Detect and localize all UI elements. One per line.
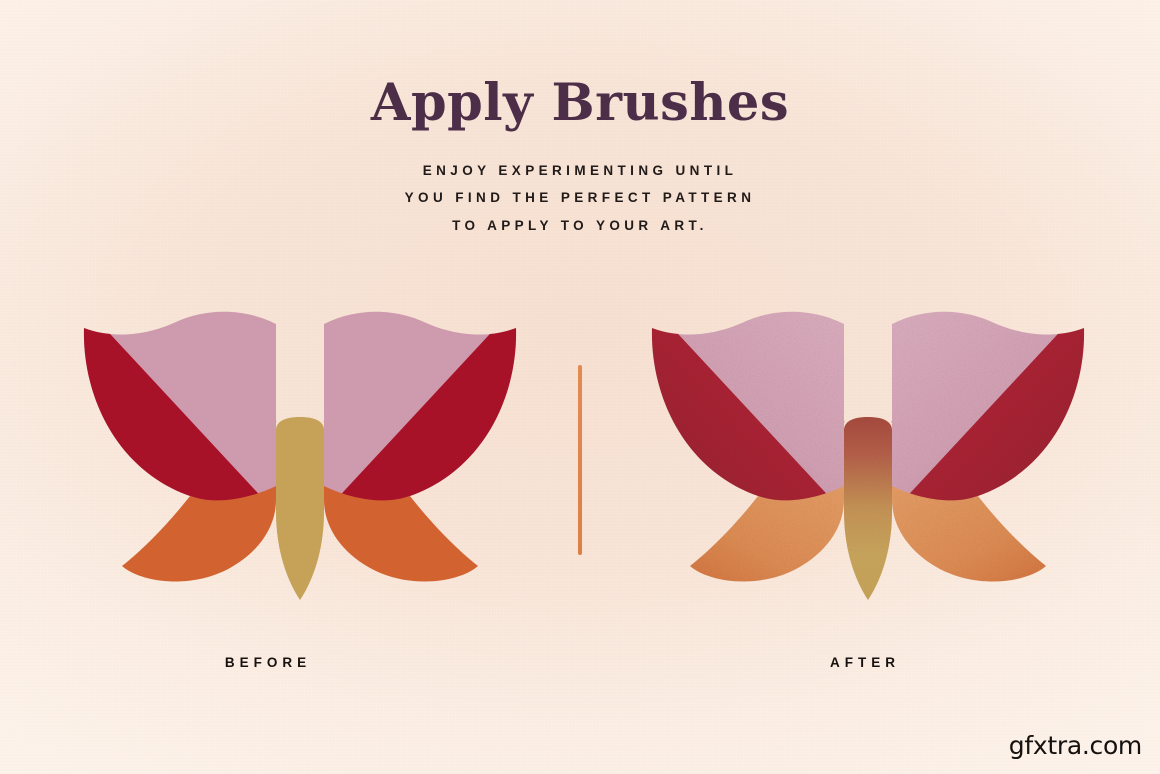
butterfly-body <box>276 417 324 600</box>
subtitle-line-3: TO APPLY TO YOUR ART. <box>345 212 815 239</box>
subtitle-line-1: ENJOY EXPERIMENTING UNTIL <box>345 157 815 184</box>
butterfly-before <box>80 300 520 620</box>
butterfly-textured-illustration <box>648 300 1088 620</box>
before-after-divider <box>578 365 582 555</box>
poster-canvas: Apply Brushes ENJOY EXPERIMENTING UNTIL … <box>0 0 1160 774</box>
butterfly-after <box>648 300 1088 620</box>
butterfly-flat-illustration <box>80 300 520 620</box>
caption-before: BEFORE <box>48 655 488 670</box>
watermark: gfxtra.com <box>1009 731 1142 760</box>
butterfly-body <box>838 410 898 610</box>
page-subtitle: ENJOY EXPERIMENTING UNTIL YOU FIND THE P… <box>345 157 815 239</box>
caption-after: AFTER <box>645 655 1085 670</box>
header-block: Apply Brushes ENJOY EXPERIMENTING UNTIL … <box>0 76 1160 239</box>
page-title: Apply Brushes <box>0 76 1160 131</box>
subtitle-line-2: YOU FIND THE PERFECT PATTERN <box>345 184 815 211</box>
